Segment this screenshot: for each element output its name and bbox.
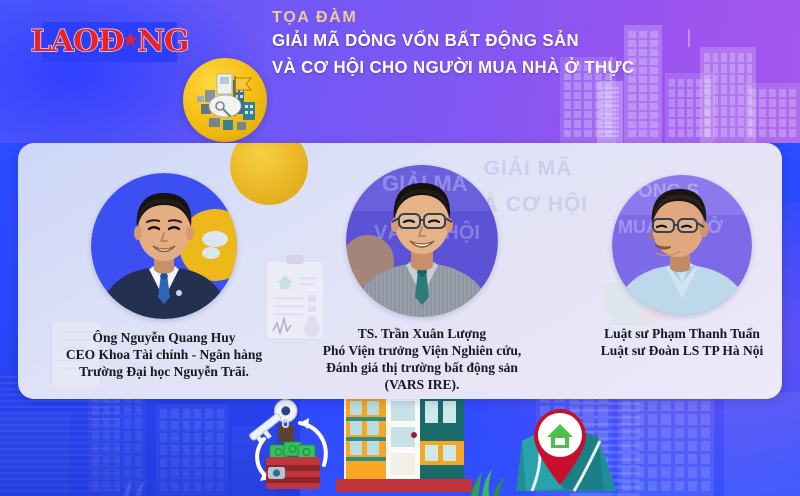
speaker-photo-pham-thanh-tuan: ỐNG S MUA NHÀ Ở [612, 175, 752, 315]
infographic-poster: LAOÐNG [0, 0, 800, 496]
lao-dong-logo[interactable]: LAOÐNG [42, 22, 177, 62]
speaker-title-2-line-1: Phó Viện trưởng Viện Nghiên cứu, [290, 342, 554, 359]
speaker-caption-3: Luật sư Phạm Thanh Tuấn Luật sư Đoàn LS … [564, 325, 782, 359]
speaker-photo-nguyen-quang-huy [91, 173, 237, 319]
logo-wordmark: LAOÐNG [31, 27, 189, 57]
speaker-card-3: ỐNG S MUA NHÀ Ở [564, 175, 782, 359]
logo-text-before: LAOÐ [31, 27, 124, 57]
star-icon [122, 32, 138, 48]
speaker-card-1: Ông Nguyễn Quang Huy CEO Khoa Tài chính … [40, 173, 288, 380]
speaker-name-2: TS. Trần Xuân Lượng [290, 325, 554, 342]
apartment-building-icon [334, 387, 474, 495]
poster-header-banner: LAOÐNG [0, 0, 800, 143]
speakers-card: GIẢI MÃ VÀ CƠ HỘI [18, 143, 782, 399]
speaker-name-3: Luật sư Phạm Thanh Tuấn [564, 325, 782, 342]
house-map-pin-icon [512, 401, 622, 496]
speaker-title-3-line-1: Luật sư Đoàn LS TP Hà Nội [564, 342, 782, 359]
headline-block: TỌA ĐÀM GIẢI MÃ DÒNG VỐN BẤT ĐỘNG SẢN VÀ… [272, 8, 792, 81]
speaker-card-2: GIẢI MÃ VÀ CƠ HỘI [290, 165, 554, 393]
speaker-caption-1: Ông Nguyễn Quang Huy CEO Khoa Tài chính … [40, 329, 288, 380]
real-estate-coin-icon [183, 58, 267, 142]
logo-text-after: NG [137, 27, 188, 57]
speaker-name-1: Ông Nguyễn Quang Huy [40, 329, 288, 346]
speaker-photo-tran-xuan-luong: GIẢI MÃ VÀ CƠ HỘI [346, 165, 498, 317]
speaker-title-2-line-3: (VARS IRE). [290, 376, 554, 393]
grass-icon [464, 461, 510, 496]
headline-line-2: VÀ CƠ HỘI CHO NGƯỜI MUA NHÀ Ở THỰC [272, 54, 771, 81]
headline-line-1: GIẢI MÃ DÒNG VỐN BẤT ĐỘNG SẢN [272, 27, 771, 54]
speaker-caption-2: TS. Trần Xuân Lượng Phó Viện trưởng Viện… [290, 325, 554, 393]
speaker-title-2-line-2: Đánh giá thị trường bất động sản [290, 359, 554, 376]
speaker-title-1-line-2: Trường Đại học Nguyễn Trãi. [40, 363, 288, 380]
grass-icon-secondary [118, 471, 158, 496]
speaker-title-1-line-1: CEO Khoa Tài chính - Ngân hàng [40, 346, 288, 363]
headline-kicker: TỌA ĐÀM [272, 8, 792, 27]
